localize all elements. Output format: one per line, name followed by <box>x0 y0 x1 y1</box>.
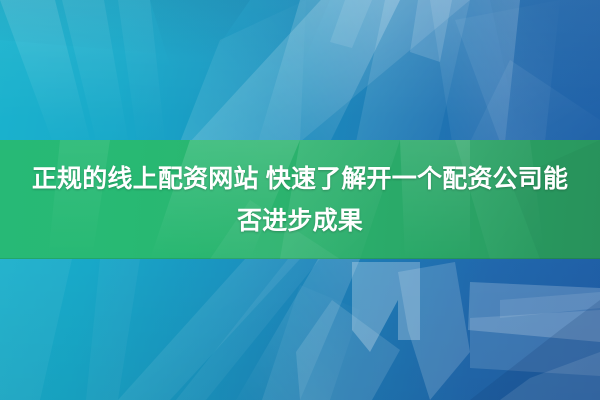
banner-image: 正规的线上配资网站 快速了解开一个配资公司能 否进步成果 <box>0 0 600 400</box>
headline-line-1: 正规的线上配资网站 快速了解开一个配资公司能 <box>32 158 568 200</box>
headline-text-block: 正规的线上配资网站 快速了解开一个配资公司能 否进步成果 <box>0 140 600 259</box>
headline-line-2: 否进步成果 <box>237 200 363 242</box>
